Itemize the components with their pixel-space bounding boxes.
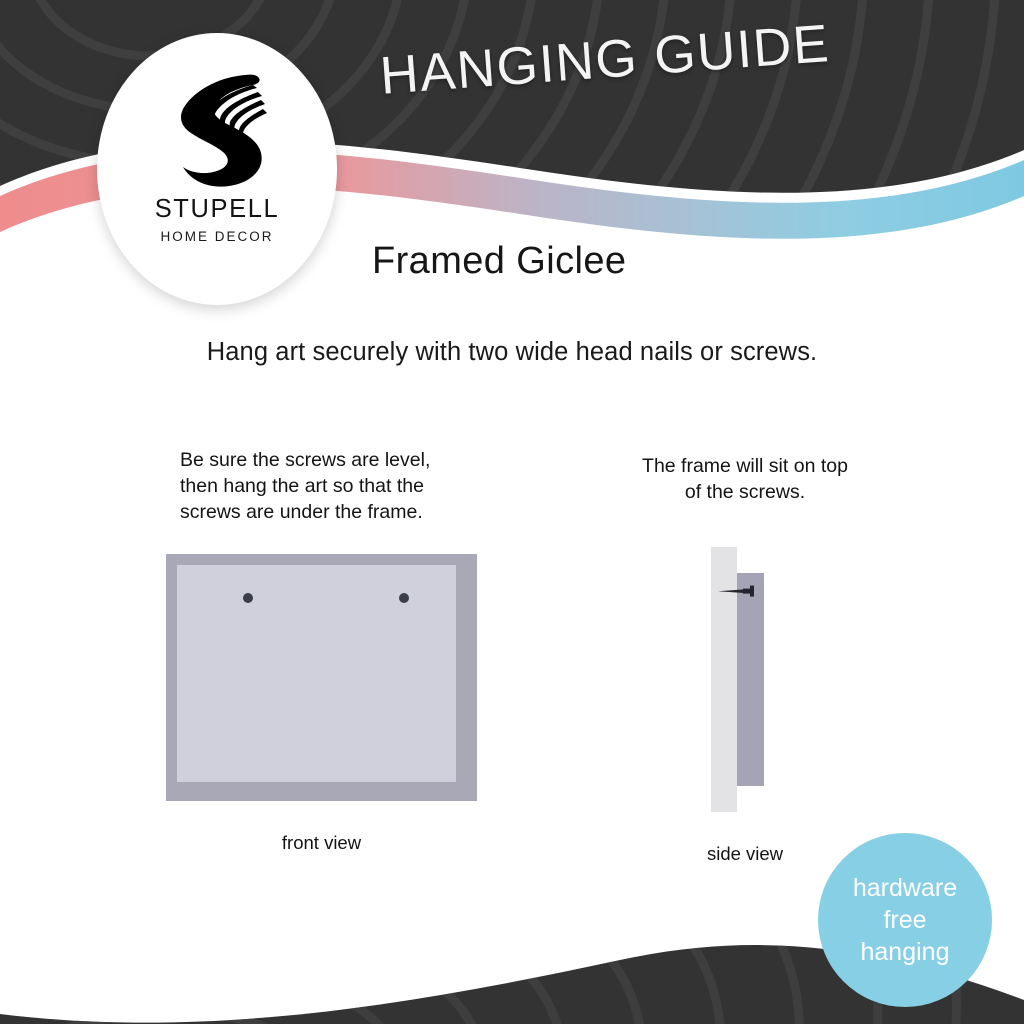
- front-view-caption-line: screws are under the frame.: [180, 499, 480, 525]
- front-view-caption-line: Be sure the screws are level,: [180, 447, 480, 473]
- front-view-caption-line: then hang the art so that the: [180, 473, 480, 499]
- brand-logo-badge: STUPELL HOME DECOR: [97, 33, 337, 305]
- screw-dot-right: [399, 593, 409, 603]
- side-view-frame-strip: [737, 573, 764, 786]
- side-view-caption-line: of the screws.: [600, 479, 890, 505]
- logo-wordmark: STUPELL: [155, 197, 280, 223]
- screw-dot-left: [243, 593, 253, 603]
- side-view-label: side view: [620, 843, 870, 865]
- badge-line-3: hanging: [861, 936, 950, 968]
- front-view-caption: Be sure the screws are level, then hang …: [180, 447, 480, 525]
- badge-line-1: hardware: [853, 872, 957, 904]
- logo-subwordmark: HOME DECOR: [160, 230, 273, 244]
- page-title: HANGING GUIDE: [378, 8, 901, 107]
- nail-icon: [718, 585, 756, 597]
- front-view-art-panel: [177, 565, 456, 782]
- side-view-caption: The frame will sit on top of the screws.: [600, 453, 890, 505]
- front-view-label: front view: [166, 832, 477, 854]
- hardware-free-hanging-badge: hardware free hanging: [818, 833, 992, 1007]
- stupell-swoosh-icon: [157, 67, 277, 193]
- product-type-title: Framed Giclee: [372, 240, 626, 283]
- side-view-caption-line: The frame will sit on top: [600, 453, 890, 479]
- front-view-diagram: [166, 554, 477, 801]
- badge-line-2: free: [883, 904, 926, 936]
- lead-instruction: Hang art securely with two wide head nai…: [0, 338, 1024, 367]
- hanging-guide-page: STUPELL HOME DECOR HANGING GUIDE Framed …: [0, 0, 1024, 1024]
